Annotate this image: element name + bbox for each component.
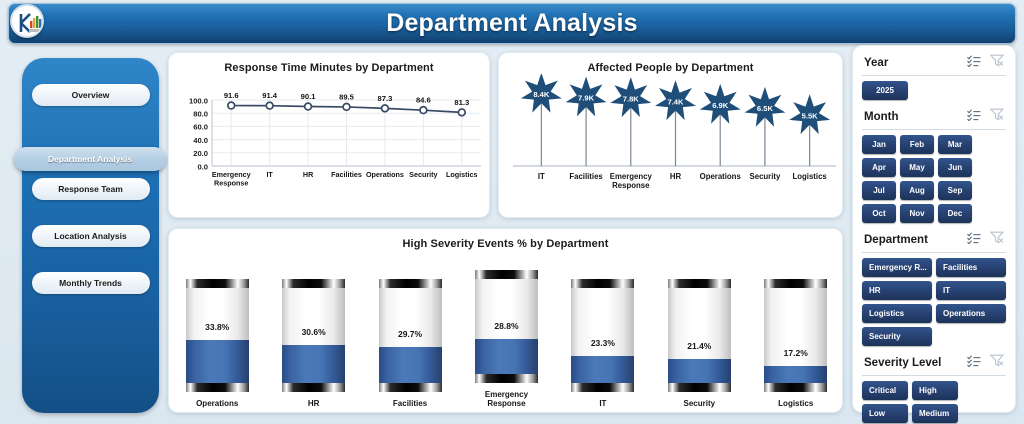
filter-chip[interactable]: Jun — [938, 158, 972, 177]
x-axis-tick: Logistics — [446, 170, 478, 179]
cylinder-value-label: 29.7% — [379, 329, 442, 339]
x-axis-tick: Security — [409, 170, 437, 179]
cylinder-category-label: Logistics — [778, 399, 813, 408]
line-data-point — [420, 107, 427, 114]
clear-filter-icon[interactable] — [990, 354, 1004, 372]
filter-options: CriticalHighLowMedium — [862, 381, 1006, 423]
multi-select-icon[interactable] — [967, 231, 981, 249]
filter-title: Department — [864, 234, 928, 246]
filter-header: Department — [862, 229, 1006, 252]
sidebar-item-location-analysis[interactable]: Location Analysis — [32, 225, 150, 247]
line-data-point — [305, 103, 312, 110]
y-axis-tick: 40.0 — [193, 136, 208, 145]
filter-chip[interactable]: Jul — [862, 181, 896, 200]
cylinder-body: 29.7% — [379, 279, 442, 392]
cylinder-cap-top — [571, 279, 634, 288]
cylinder-body: 30.6% — [282, 279, 345, 392]
cylinder-category-label: HR — [308, 399, 320, 408]
y-axis-tick: 80.0 — [193, 110, 208, 119]
x-axis-tick: Operations — [700, 172, 742, 181]
cylinder-cap-bottom — [282, 383, 345, 392]
filter-chip[interactable]: 2025 — [862, 81, 908, 100]
cylinder-value-label: 33.8% — [186, 322, 249, 332]
divider — [862, 129, 1006, 130]
filter-chip[interactable]: Low — [862, 404, 908, 423]
sidebar-item-response-team[interactable]: Response Team — [32, 178, 150, 200]
cylinder-category-label: Emergency Response — [466, 390, 546, 408]
cylinder-cap-bottom — [571, 383, 634, 392]
clear-filter-icon[interactable] — [990, 108, 1004, 126]
x-axis-tick: Facilities — [331, 170, 362, 179]
line-data-label: 90.1 — [301, 92, 317, 101]
cylinder-cap-top — [379, 279, 442, 288]
logo-k-barchart-icon — [10, 4, 44, 38]
cylinder-bar: 29.7%Facilities — [370, 279, 450, 408]
cylinder-bars-row: 33.8%Operations30.6%HR29.7%Facilities28.… — [169, 263, 844, 408]
filter-section-department: DepartmentEmergency R...FacilitiesHRITLo… — [862, 229, 1006, 346]
cylinder-body: 17.2% — [764, 279, 827, 392]
x-axis-tick: IT — [538, 172, 545, 181]
cylinder-bar: 17.2%Logistics — [756, 279, 836, 408]
y-axis-tick: 100.0 — [189, 96, 208, 105]
filter-header: Month — [862, 106, 1006, 129]
dashboard-root: Department Analysis Overview Response Te… — [0, 0, 1024, 424]
filter-chip[interactable]: HR — [862, 281, 932, 300]
filter-chip[interactable]: Feb — [900, 135, 934, 154]
cylinder-body: 23.3% — [571, 279, 634, 392]
multi-select-icon[interactable] — [967, 108, 981, 126]
filter-chip[interactable]: Logistics — [862, 304, 932, 323]
filter-chip[interactable]: Medium — [912, 404, 958, 423]
star-data-label: 7.9K — [578, 94, 595, 103]
cylinder-bar: 30.6%HR — [274, 279, 354, 408]
filter-sections: Year2025MonthJanFebMarAprMayJunJulAugSep… — [862, 52, 1006, 423]
cylinder-cap-bottom — [379, 383, 442, 392]
line-data-label: 91.4 — [262, 91, 278, 100]
filter-title: Month — [864, 111, 898, 123]
sidebar-item-label: Department Analysis — [48, 154, 132, 164]
response-time-chart-card: Response Time Minutes by Department 0.02… — [168, 52, 490, 218]
line-data-label: 87.3 — [378, 94, 393, 103]
cylinder-value-label: 21.4% — [668, 341, 731, 351]
chart-title: Response Time Minutes by Department — [169, 53, 489, 74]
filter-chip[interactable]: Dec — [938, 204, 972, 223]
cylinder-cap-top — [668, 279, 731, 288]
line-data-label: 81.3 — [454, 98, 469, 107]
line-data-point — [266, 102, 273, 109]
filter-icon-group — [967, 54, 1004, 72]
filter-chip[interactable]: Apr — [862, 158, 896, 177]
filter-header: Severity Level — [862, 352, 1006, 375]
filter-chip[interactable]: Nov — [900, 204, 934, 223]
sidebar-item-label: Overview — [72, 90, 110, 100]
star-chart-svg: 8.4K7.9K7.8K7.4K6.9K6.5K5.5KITFacilities… — [499, 74, 844, 206]
sidebar-nav: Overview Response Team Location Analysis… — [22, 58, 159, 413]
line-chart-svg: 0.020.040.060.080.0100.091.691.490.189.5… — [169, 74, 491, 206]
cylinder-bar: 28.8%Emergency Response — [466, 270, 546, 408]
y-axis-tick: 20.0 — [193, 149, 208, 158]
divider — [862, 252, 1006, 253]
x-axis-tick: Emergency — [610, 172, 653, 181]
cylinder-category-label: IT — [599, 399, 606, 408]
filter-section-year: Year2025 — [862, 52, 1006, 100]
cylinder-cap-bottom — [668, 383, 731, 392]
filter-chip[interactable]: Oct — [862, 204, 896, 223]
y-axis-tick: 0.0 — [197, 162, 208, 171]
x-axis-tick: Logistics — [793, 172, 828, 181]
cylinder-category-label: Security — [684, 399, 716, 408]
filter-chip[interactable]: Emergency R... — [862, 258, 932, 277]
line-data-label: 91.6 — [224, 91, 239, 100]
x-axis-tick: Operations — [366, 170, 404, 179]
x-axis-tick: Response — [612, 181, 650, 190]
page-title: Department Analysis — [386, 9, 638, 38]
sidebar-item-label: Monthly Trends — [59, 278, 122, 288]
cylinder-value-label: 30.6% — [282, 327, 345, 337]
line-data-label: 89.5 — [339, 92, 355, 101]
filter-chip[interactable]: IT — [936, 281, 1006, 300]
filter-icon-group — [967, 354, 1004, 372]
y-axis-tick: 60.0 — [193, 123, 208, 132]
star-data-label: 7.8K — [623, 94, 640, 103]
cylinder-body: 21.4% — [668, 279, 731, 392]
filter-chip[interactable]: Mar — [938, 135, 972, 154]
filter-header: Year — [862, 52, 1006, 75]
x-axis-tick: HR — [303, 170, 314, 179]
sidebar-item-label: Location Analysis — [54, 231, 126, 241]
cylinder-cap-top — [186, 279, 249, 288]
cylinder-bar: 21.4%Security — [659, 279, 739, 408]
multi-select-icon[interactable] — [967, 354, 981, 372]
filter-section-month: MonthJanFebMarAprMayJunJulAugSepOctNovDe… — [862, 106, 1006, 223]
line-data-point — [382, 105, 389, 112]
filter-chip[interactable]: Security — [862, 327, 932, 346]
high-severity-chart-card: High Severity Events % by Department 33.… — [168, 228, 843, 413]
sidebar-item-monthly-trends[interactable]: Monthly Trends — [32, 272, 150, 294]
filter-chip[interactable]: Sep — [938, 181, 972, 200]
sidebar-item-department-analysis[interactable]: Department Analysis — [14, 147, 166, 171]
line-data-label: 84.6 — [416, 96, 431, 105]
filter-title: Year — [864, 57, 888, 69]
sidebar-item-overview[interactable]: Overview — [32, 84, 150, 106]
filter-chip[interactable]: Jan — [862, 135, 896, 154]
filter-chip[interactable]: Critical — [862, 381, 908, 400]
filter-panel: Year2025MonthJanFebMarAprMayJunJulAugSep… — [852, 45, 1016, 413]
affected-people-chart-card: Affected People by Department 8.4K7.9K7.… — [498, 52, 843, 218]
sidebar-item-label: Response Team — [58, 184, 123, 194]
filter-options: JanFebMarAprMayJunJulAugSepOctNovDec — [862, 135, 1006, 223]
cylinder-body: 28.8% — [475, 270, 538, 383]
cylinder-bar: 23.3%IT — [563, 279, 643, 408]
filter-chip[interactable]: Operations — [936, 304, 1006, 323]
filter-chip[interactable]: Aug — [900, 181, 934, 200]
filter-options: Emergency R...FacilitiesHRITLogisticsOpe… — [862, 258, 1006, 346]
cylinder-cap-bottom — [764, 383, 827, 392]
x-axis-tick: HR — [670, 172, 682, 181]
star-data-label: 5.5K — [802, 111, 819, 120]
cylinder-category-label: Operations — [196, 399, 238, 408]
clear-filter-icon[interactable] — [990, 231, 1004, 249]
clear-filter-icon[interactable] — [990, 54, 1004, 72]
line-data-point — [228, 102, 235, 109]
star-data-label: 8.4K — [533, 90, 550, 99]
filter-chip[interactable]: May — [900, 158, 934, 177]
chart-title: High Severity Events % by Department — [169, 229, 842, 250]
filter-icon-group — [967, 108, 1004, 126]
cylinder-cap-top — [475, 270, 538, 279]
app-header: Department Analysis — [8, 3, 1016, 44]
filter-options: 2025 — [862, 81, 1006, 100]
x-axis-tick: Security — [750, 172, 781, 181]
filter-icon-group — [967, 231, 1004, 249]
multi-select-icon[interactable] — [967, 54, 981, 72]
cylinder-cap-top — [764, 279, 827, 288]
star-data-label: 7.4K — [667, 97, 684, 106]
x-axis-tick: Facilities — [569, 172, 603, 181]
x-axis-tick: IT — [266, 170, 273, 179]
filter-section-severity-level: Severity LevelCriticalHighLowMedium — [862, 352, 1006, 423]
filter-chip[interactable]: Facilities — [936, 258, 1006, 277]
cylinder-bar: 33.8%Operations — [177, 279, 257, 408]
filter-chip[interactable]: High — [912, 381, 958, 400]
cylinder-category-label: Facilities — [393, 399, 427, 408]
x-axis-tick: Response — [214, 179, 248, 188]
star-data-label: 6.9K — [712, 101, 729, 110]
filter-title: Severity Level — [864, 357, 941, 369]
cylinder-value-label: 17.2% — [764, 348, 827, 358]
cylinder-value-label: 28.8% — [475, 321, 538, 331]
cylinder-body: 33.8% — [186, 279, 249, 392]
cylinder-value-label: 23.3% — [571, 338, 634, 348]
line-data-point — [458, 109, 465, 116]
divider — [862, 375, 1006, 376]
line-data-point — [343, 104, 350, 111]
star-data-label: 6.5K — [757, 104, 774, 113]
cylinder-cap-bottom — [186, 383, 249, 392]
chart-title: Affected People by Department — [499, 53, 842, 74]
divider — [862, 75, 1006, 76]
cylinder-cap-bottom — [475, 374, 538, 383]
affected-people-plot-area: 8.4K7.9K7.8K7.4K6.9K6.5K5.5KITFacilities… — [499, 74, 842, 206]
response-time-plot-area: 0.020.040.060.080.0100.091.691.490.189.5… — [169, 74, 489, 206]
cylinder-cap-top — [282, 279, 345, 288]
